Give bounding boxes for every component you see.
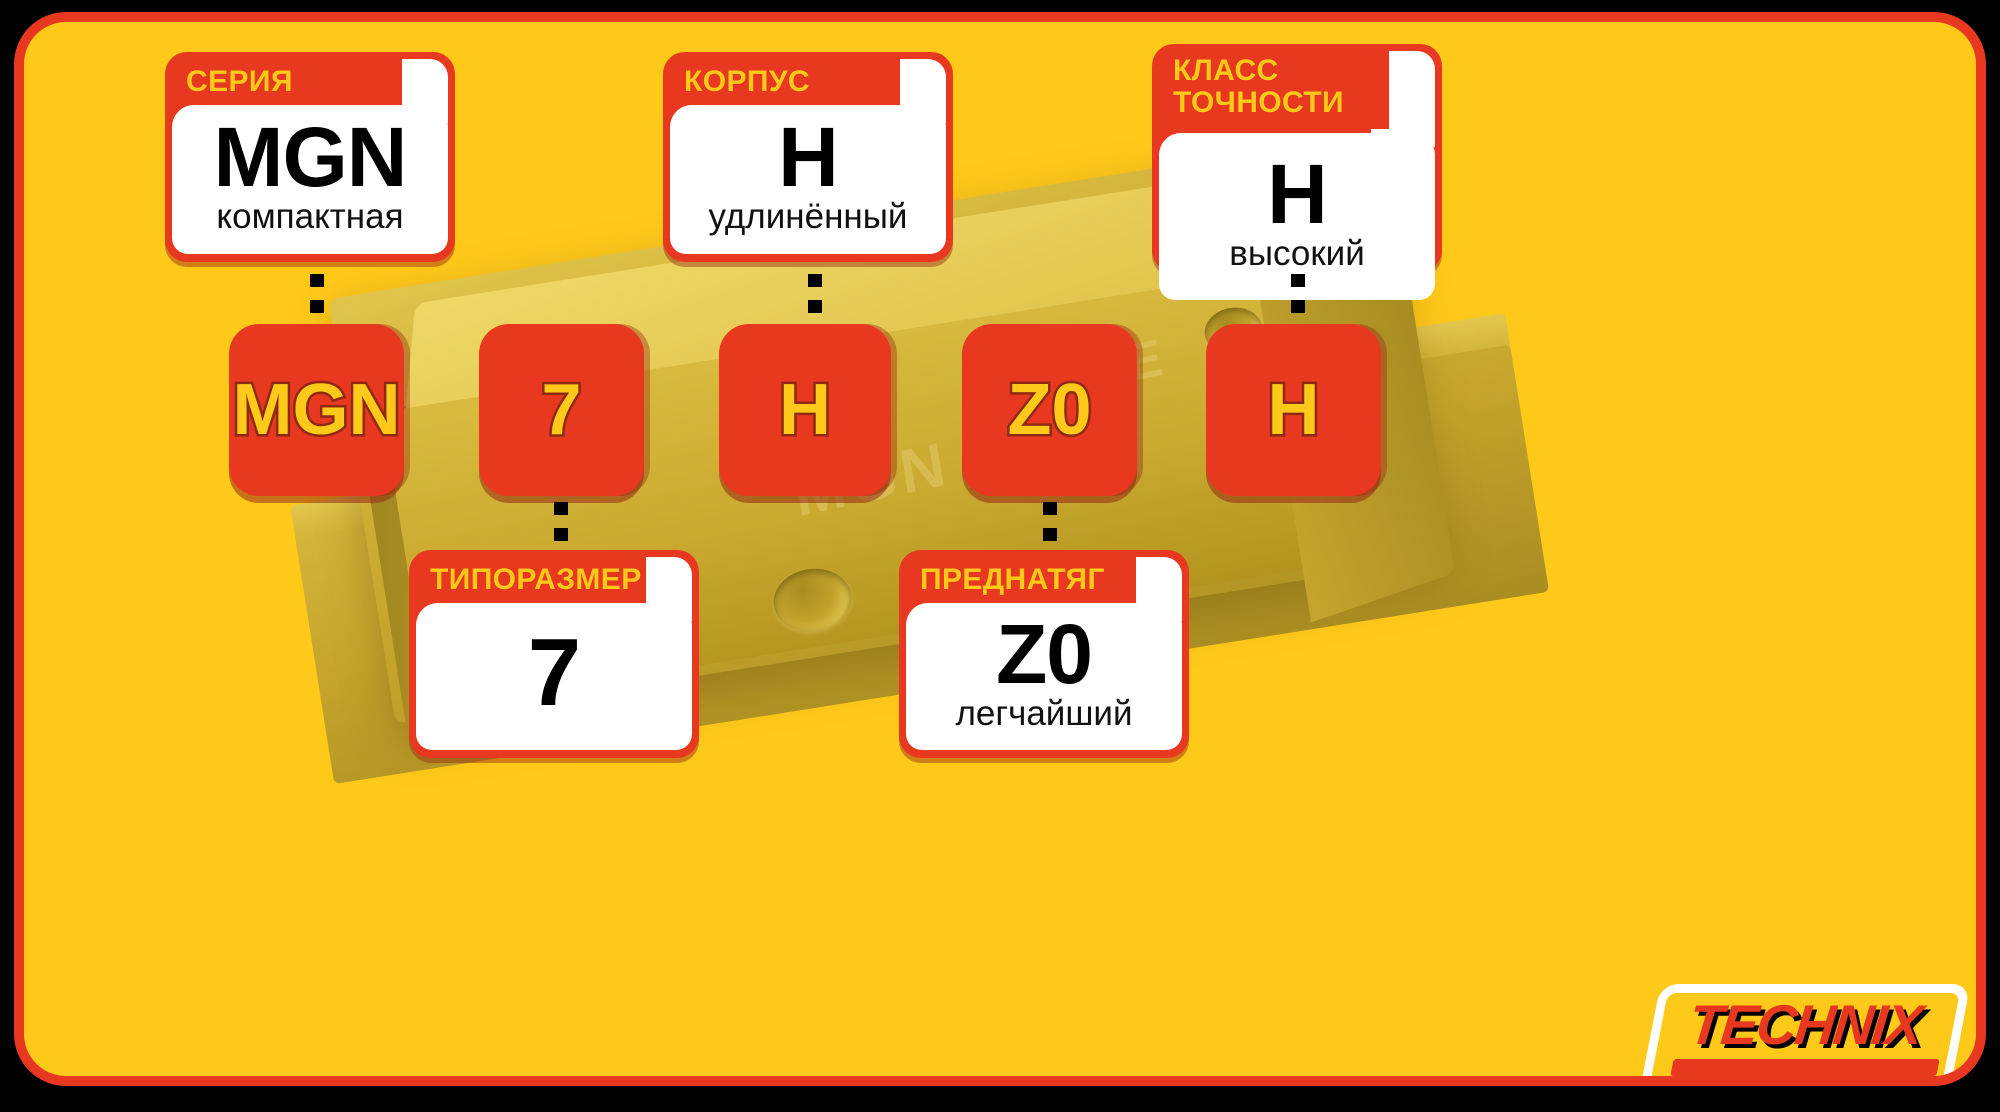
card-subtitle: компактная <box>216 199 403 236</box>
chip-label: MGN <box>233 374 401 446</box>
card-header-label: ПРЕДНАТЯГ <box>920 564 1105 596</box>
card-value: Z0 <box>996 615 1092 694</box>
card-size: ТИПОРАЗМЕР 7 <box>409 550 699 758</box>
chip-series: MGN <box>229 324 404 496</box>
diagram-content: СЕРИЯ MGN компактная КОРПУС H удлинённый <box>24 22 1976 1076</box>
card-subtitle: легчайший <box>955 696 1132 733</box>
chip-body-type: H <box>719 324 891 496</box>
connector-body-type <box>808 274 822 326</box>
connector-preload <box>1043 502 1057 554</box>
logo-wordmark: TECHNIX <box>1647 992 1964 1057</box>
card-value: H <box>1267 155 1327 234</box>
card-body: Z0 легчайший <box>906 603 1182 750</box>
connector-accuracy-class <box>1291 274 1305 326</box>
card-header: СЕРИЯ <box>172 59 448 105</box>
card-accuracy-class: КЛАСС ТОЧНОСТИ H высокий <box>1152 44 1442 272</box>
chip-label: 7 <box>541 374 581 446</box>
chip-label: H <box>1268 374 1320 446</box>
card-body-type: КОРПУС H удлинённый <box>663 52 953 262</box>
card-subtitle: удлинённый <box>709 199 908 236</box>
card-body: MGN компактная <box>172 105 448 254</box>
technix-logo: TECHNIX <box>1650 984 1960 1086</box>
chip-preload: Z0 <box>962 324 1137 496</box>
poster-frame: MGN OE СЕРИЯ MGN компактная <box>14 12 1986 1086</box>
chip-label: Z0 <box>1007 374 1091 446</box>
connector-series <box>310 274 324 326</box>
card-header: ПРЕДНАТЯГ <box>906 557 1182 603</box>
card-header: ТИПОРАЗМЕР <box>416 557 692 603</box>
chip-size: 7 <box>479 324 644 496</box>
card-body: H удлинённый <box>670 105 946 254</box>
card-value: 7 <box>528 628 580 718</box>
card-value: MGN <box>214 118 407 197</box>
card-header-label: КОРПУС <box>684 66 810 98</box>
logo-underline-bar <box>1670 1059 1939 1076</box>
card-subtitle: высокий <box>1229 236 1365 273</box>
card-series: СЕРИЯ MGN компактная <box>165 52 455 262</box>
card-header: КЛАСС ТОЧНОСТИ <box>1159 51 1435 133</box>
card-header: КОРПУС <box>670 59 946 105</box>
card-header-label: СЕРИЯ <box>186 66 293 98</box>
card-header-label: КЛАСС ТОЧНОСТИ <box>1173 55 1344 120</box>
card-preload: ПРЕДНАТЯГ Z0 легчайший <box>899 550 1189 758</box>
connector-size <box>554 502 568 554</box>
infographic-poster: MGN OE СЕРИЯ MGN компактная <box>0 0 2000 1112</box>
chip-accuracy-class: H <box>1206 324 1381 496</box>
card-value: H <box>778 118 838 197</box>
card-body: 7 <box>416 603 692 750</box>
chip-label: H <box>779 374 831 446</box>
card-header-label: ТИПОРАЗМЕР <box>430 564 642 596</box>
